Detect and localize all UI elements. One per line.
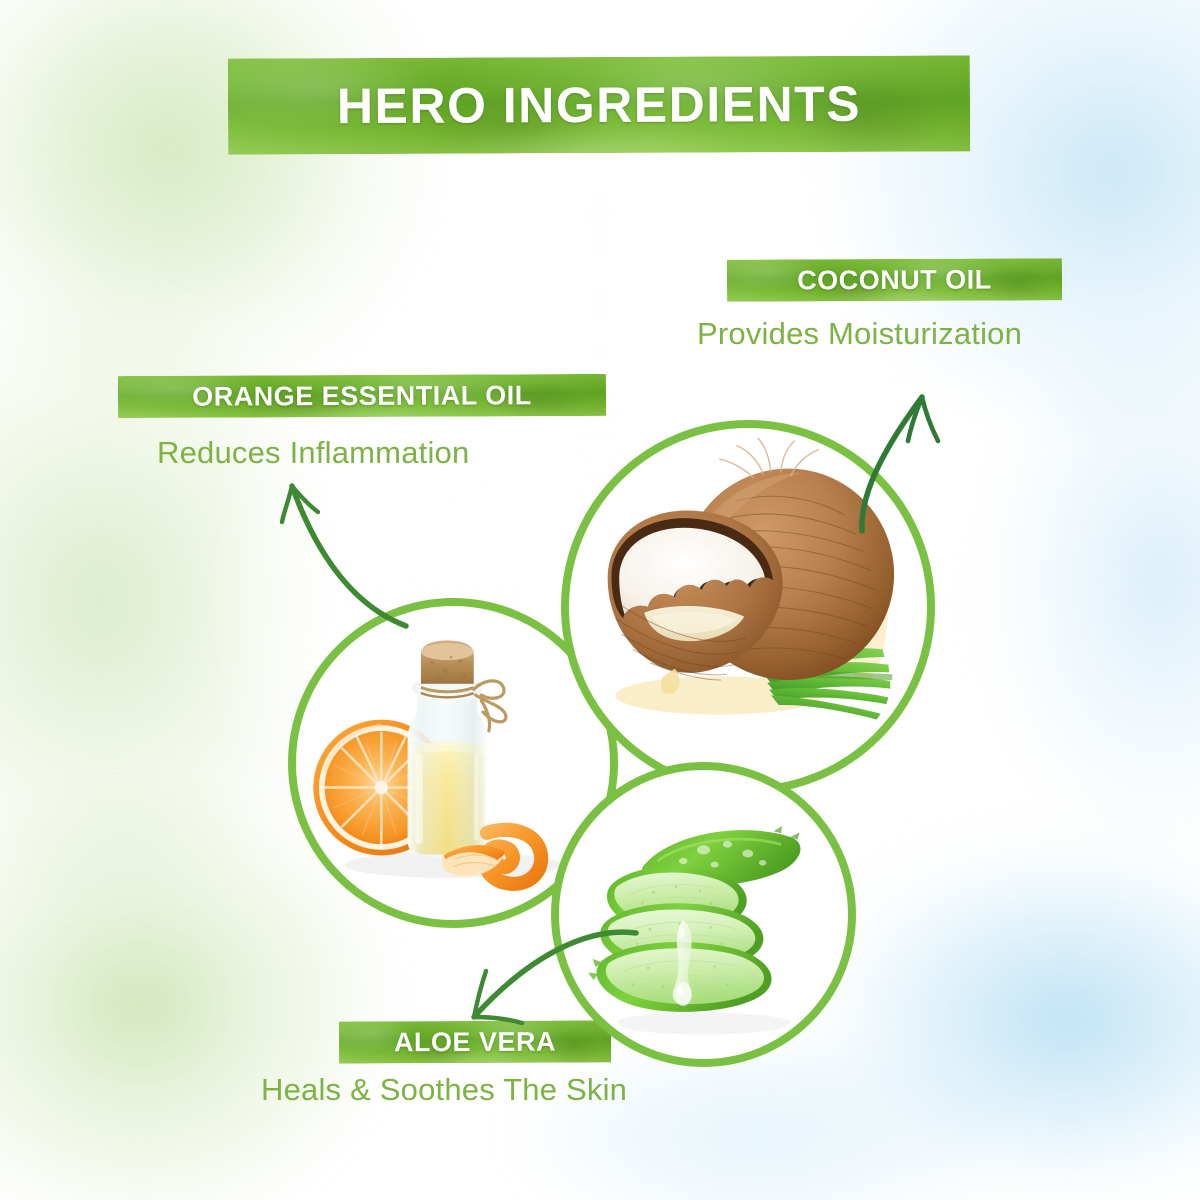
wash-blue-right — [930, 300, 1200, 860]
aloe-vera-photo — [565, 776, 842, 1053]
label-text-coconut-oil: COCONUT OIL — [797, 264, 992, 296]
aloe-vera-illustration — [565, 776, 842, 1053]
label-coconut-oil: COCONUT OIL — [727, 258, 1062, 301]
coconut-illustration — [575, 434, 921, 780]
infographic-canvas: HERO INGREDIENTS — [0, 0, 1200, 1200]
page-title-banner: HERO INGREDIENTS — [228, 55, 970, 154]
benefit-aloe-vera: Heals & Soothes The Skin — [261, 1072, 627, 1108]
label-text-aloe-vera: ALOE VERA — [394, 1026, 556, 1058]
aloe-vera-photo-circle — [551, 762, 856, 1067]
label-orange-essential-oil: ORANGE ESSENTIAL OIL — [118, 374, 606, 418]
benefit-coconut-oil: Provides Moisturization — [697, 316, 1022, 352]
page-title: HERO INGREDIENTS — [337, 75, 861, 135]
benefit-orange-essential-oil: Reduces Inflammation — [157, 435, 469, 471]
label-aloe-vera: ALOE VERA — [339, 1020, 611, 1063]
coconut-photo-circle — [561, 420, 935, 794]
coconut-photo — [575, 434, 921, 780]
label-text-orange-essential-oil: ORANGE ESSENTIAL OIL — [192, 380, 532, 412]
